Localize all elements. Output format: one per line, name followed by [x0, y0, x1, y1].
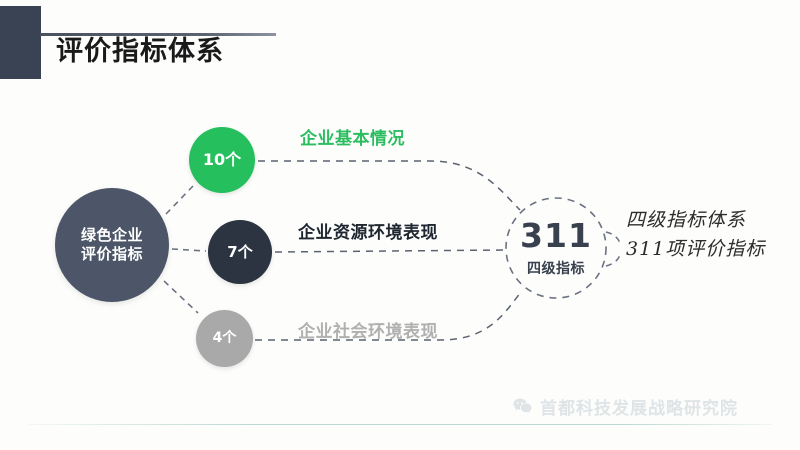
- total-indicator-bubble: 311 四级指标: [506, 198, 606, 298]
- spoke-to-gray: [164, 281, 198, 313]
- spoke-to-green: [166, 186, 193, 214]
- watermark-text: 首都科技发展战略研究院: [540, 394, 738, 419]
- spoke-to-dark: [172, 249, 206, 251]
- branch-count-circle-resource[interactable]: 7个: [208, 220, 272, 284]
- center-node-line2: 评价指标: [81, 245, 143, 264]
- slide-root: 评价指标体系 绿色企业 评价指标 10个 7个: [0, 0, 800, 450]
- branch-count-label-social: 4个: [213, 330, 237, 348]
- wechat-icon: [512, 396, 533, 417]
- footer-divider: [28, 424, 772, 425]
- branch-count-circle-social[interactable]: 4个: [196, 310, 253, 367]
- branch-title-basic: 企业基本情况: [300, 124, 405, 149]
- total-number: 311: [520, 219, 592, 252]
- branch-count-circle-basic[interactable]: 10个: [189, 127, 255, 193]
- center-node-line1: 绿色企业: [81, 226, 143, 245]
- center-node[interactable]: 绿色企业 评价指标: [55, 188, 169, 302]
- link-green-to-total: [258, 161, 520, 210]
- branch-title-social: 企业社会环境表现: [298, 317, 438, 342]
- branch-count-label-basic: 10个: [203, 150, 241, 170]
- watermark: 首都科技发展战略研究院: [512, 394, 738, 419]
- tail-hook-bottom: [606, 255, 620, 266]
- total-caption: 四级指标: [527, 258, 585, 278]
- annotation-line1: 四级指标体系: [626, 206, 765, 235]
- annotation-line2: 311项评价指标: [626, 235, 765, 264]
- branch-title-resource: 企业资源环境表现: [298, 218, 438, 243]
- link-dark-to-total: [275, 250, 505, 252]
- tail-hook-top: [606, 232, 620, 243]
- handwritten-annotation: 四级指标体系 311项评价指标: [626, 206, 765, 265]
- branch-count-label-resource: 7个: [227, 243, 252, 262]
